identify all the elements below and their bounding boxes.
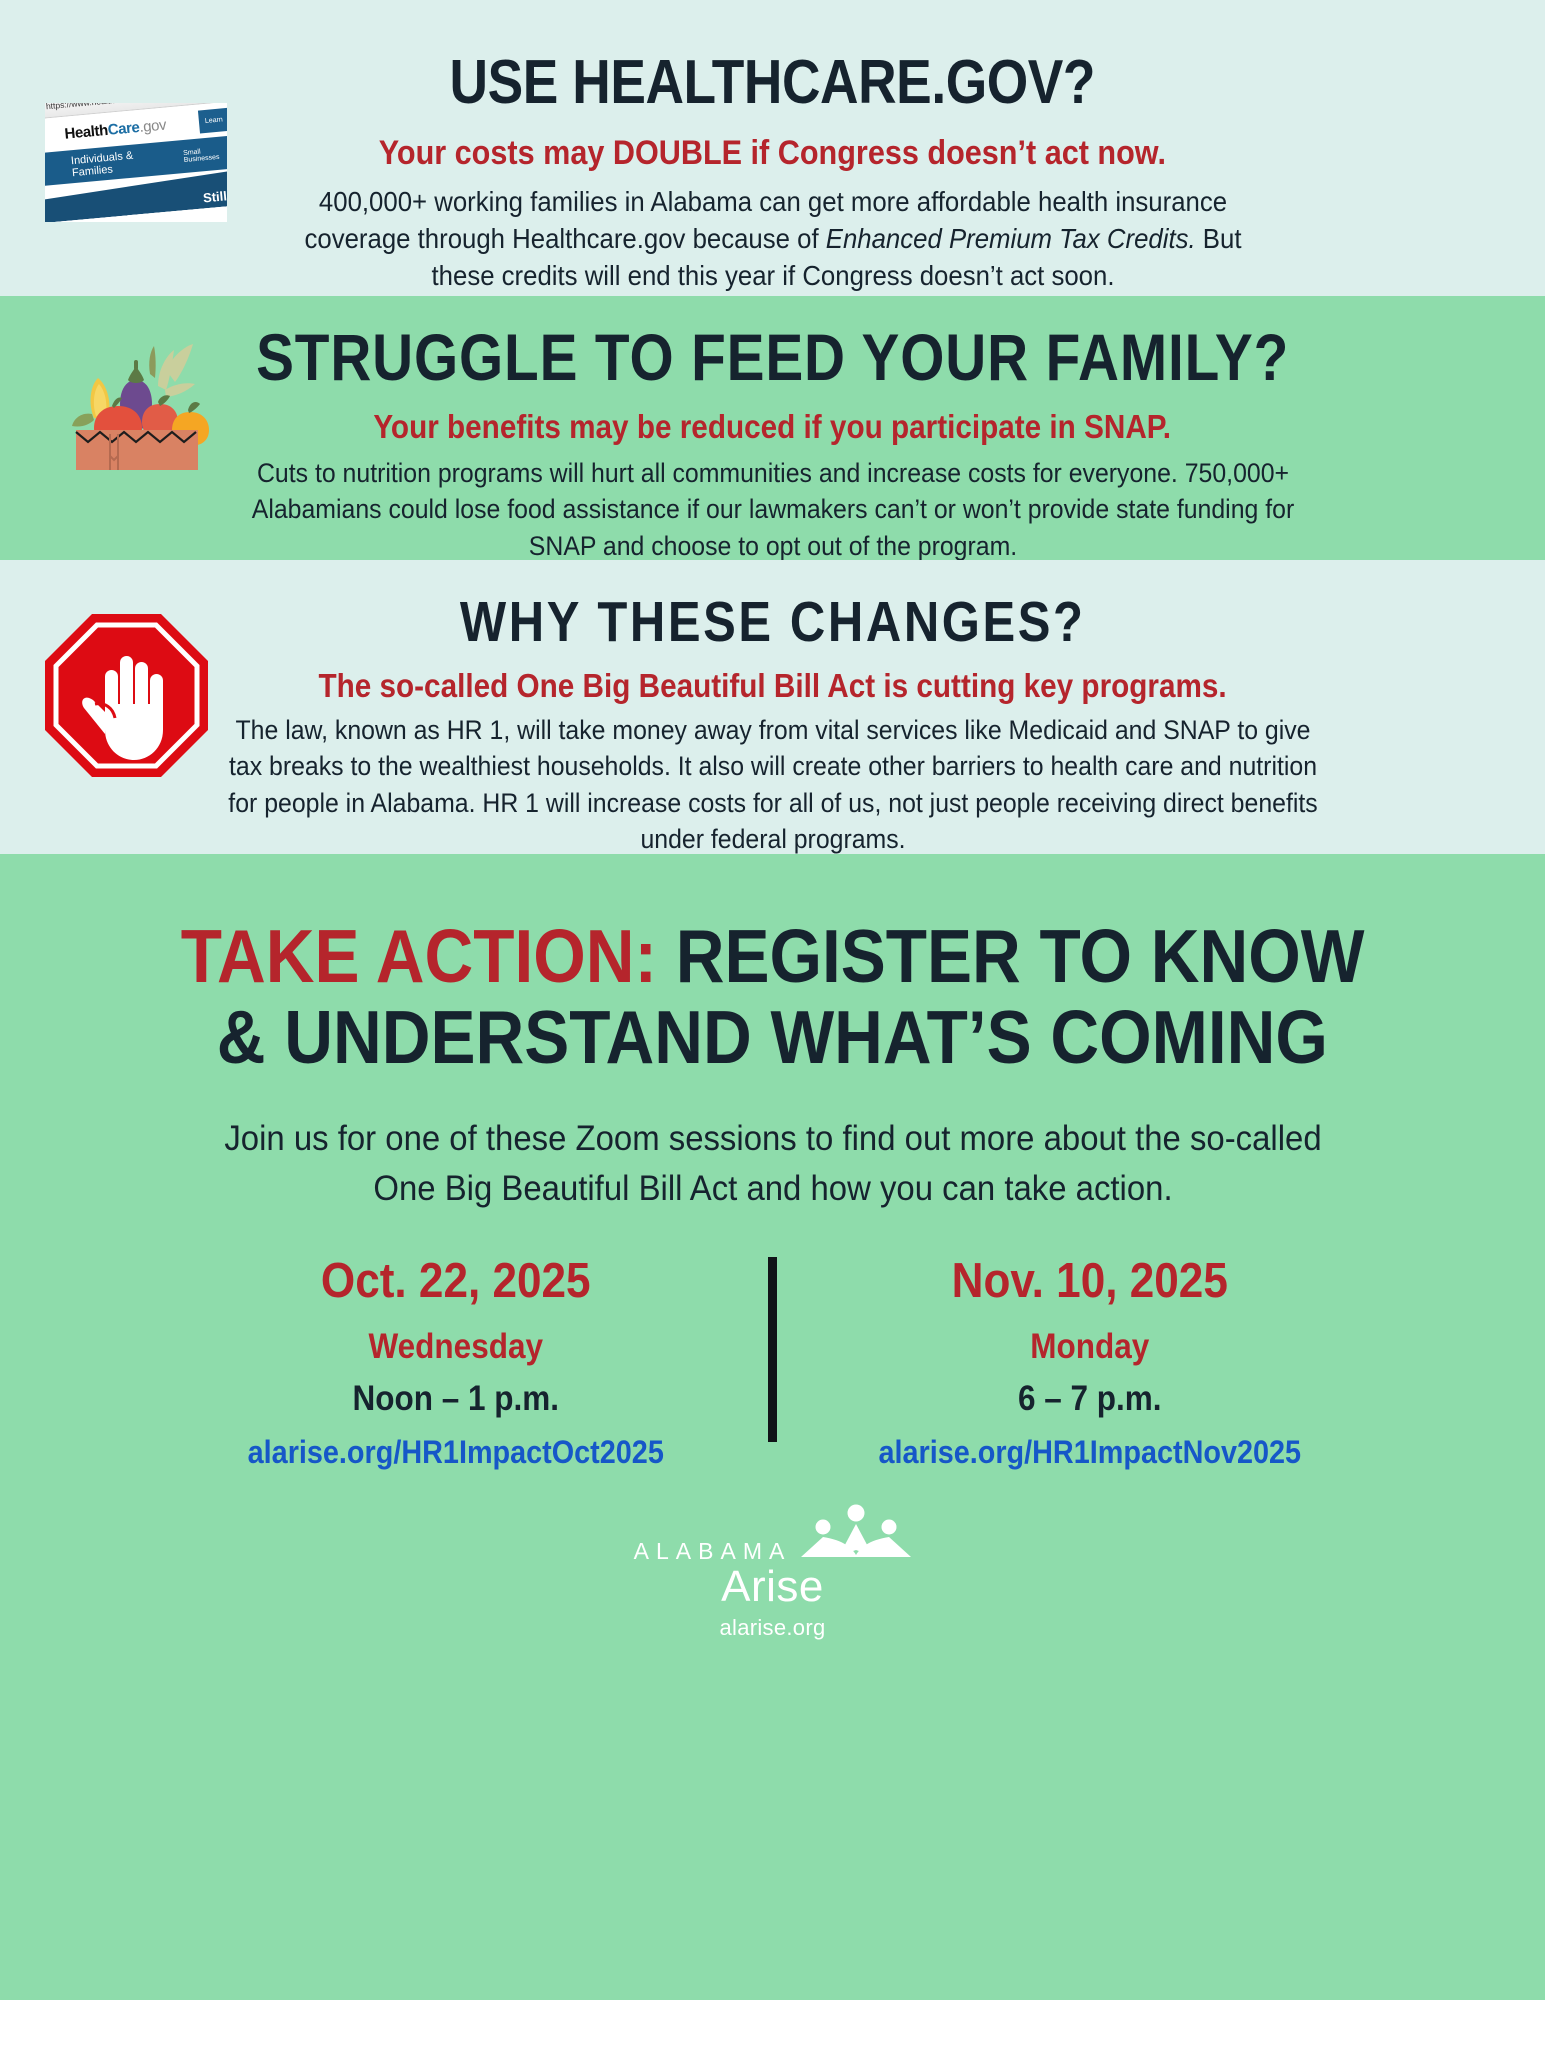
- snap-body: Cuts to nutrition programs will hurt all…: [248, 455, 1297, 564]
- snap-subhead: Your benefits may be reduced if you part…: [374, 410, 1172, 443]
- section-why-these-changes: WHY THESE CHANGES? The so-called One Big…: [0, 560, 1545, 854]
- session-item-2: Nov. 10, 2025 Monday 6 – 7 p.m. alarise.…: [777, 1253, 1403, 1470]
- session-divider: [768, 1257, 777, 1442]
- session-registration-link[interactable]: alarise.org/HR1ImpactOct2025: [174, 1435, 737, 1470]
- logo-arise-text: Arise: [721, 1565, 824, 1609]
- healthcare-body-italic: Enhanced Premium Tax Credits.: [825, 223, 1195, 254]
- healthcare-subhead: Your costs may DOUBLE if Congress doesn’…: [379, 136, 1166, 170]
- alabama-arise-logo: ALABAMA Arise alarise.: [634, 1504, 912, 1641]
- session-item-1: Oct. 22, 2025 Wednesday Noon – 1 p.m. al…: [143, 1253, 769, 1470]
- flyer-page: https://www.healthcare.gov HealthCare.go…: [0, 0, 1545, 2000]
- section-healthcare: https://www.healthcare.gov HealthCare.go…: [0, 0, 1545, 296]
- session-list: Oct. 22, 2025 Wednesday Noon – 1 p.m. al…: [143, 1253, 1403, 1470]
- session-time: Noon – 1 p.m.: [174, 1380, 737, 1419]
- section-take-action: TAKE ACTION: REGISTER TO KNOW & UNDERSTA…: [0, 854, 1545, 2000]
- action-subtext: Join us for one of these Zoom sessions t…: [218, 1114, 1327, 1213]
- healthcare-body: 400,000+ working families in Alabama can…: [299, 184, 1247, 295]
- why-headline: WHY THESE CHANGES?: [460, 594, 1086, 651]
- arise-people-icon: [801, 1504, 911, 1567]
- snap-headline: STRUGGLE TO FEED YOUR FAMILY?: [256, 324, 1289, 390]
- action-headline-line1: TAKE ACTION: REGISTER TO KNOW: [181, 916, 1365, 997]
- action-headline-line2: & UNDERSTAND WHAT’S COMING: [217, 997, 1328, 1078]
- why-subhead: The so-called One Big Beautiful Bill Act…: [318, 669, 1226, 702]
- session-date: Nov. 10, 2025: [808, 1253, 1371, 1309]
- session-time: 6 – 7 p.m.: [808, 1380, 1371, 1419]
- healthcare-headline: USE HEALTHCARE.GOV?: [450, 52, 1096, 114]
- session-weekday: Wednesday: [174, 1328, 737, 1367]
- session-date: Oct. 22, 2025: [174, 1253, 737, 1309]
- action-headline-rest: REGISTER TO KNOW: [657, 914, 1365, 998]
- section-snap: STRUGGLE TO FEED YOUR FAMILY? Your benef…: [0, 296, 1545, 560]
- action-headline-highlight: TAKE ACTION:: [181, 914, 657, 998]
- session-weekday: Monday: [808, 1328, 1371, 1367]
- why-body: The law, known as HR 1, will take money …: [216, 712, 1329, 858]
- session-registration-link[interactable]: alarise.org/HR1ImpactNov2025: [808, 1435, 1371, 1470]
- logo-website-url: alarise.org: [719, 1615, 825, 1641]
